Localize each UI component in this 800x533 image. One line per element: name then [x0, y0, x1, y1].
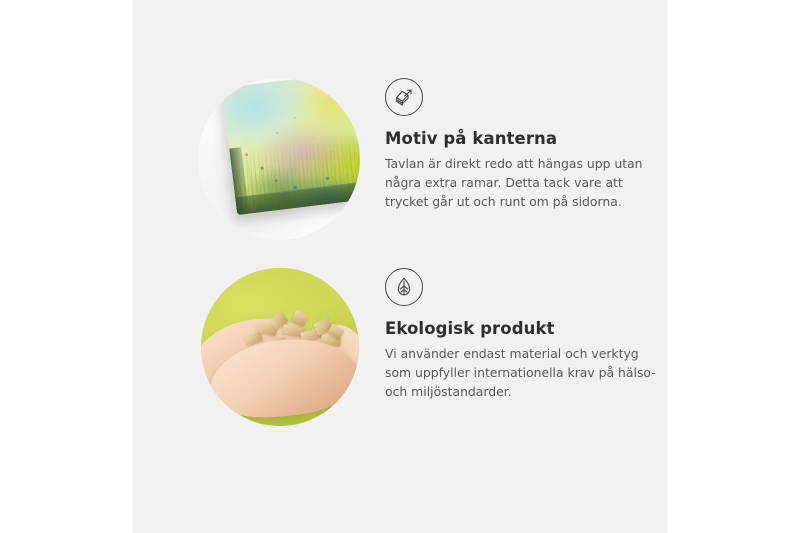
- feature-body-edges: Tavlan är direkt redo att hängas upp uta…: [385, 155, 657, 212]
- leaf-icon: [385, 268, 423, 306]
- feature-block-edges: Motiv på kanterna Tavlan är direkt redo …: [133, 78, 667, 258]
- feature-text-eco: Ekologisk produkt Vi använder endast mat…: [385, 268, 675, 402]
- canvas-wrapped-edge-icon: [385, 78, 423, 116]
- product-feature-panel: Motiv på kanterna Tavlan är direkt redo …: [0, 0, 800, 533]
- grass-backdrop: [201, 268, 359, 426]
- hands-holding-wood-chips-photo: [201, 268, 359, 426]
- feature-title-eco: Ekologisk produkt: [385, 319, 675, 339]
- canvas-print-corner-photo: [198, 78, 360, 240]
- feature-block-eco: Ekologisk produkt Vi använder endast mat…: [133, 268, 667, 448]
- feature-text-edges: Motiv på kanterna Tavlan är direkt redo …: [385, 78, 675, 212]
- canvas-photo-backdrop: [198, 78, 360, 240]
- feature-body-eco: Vi använder endast material och verktyg …: [385, 345, 657, 402]
- feature-title-edges: Motiv på kanterna: [385, 129, 675, 149]
- content-panel: Motiv på kanterna Tavlan är direkt redo …: [133, 0, 667, 533]
- canvas-print-block: [222, 78, 360, 215]
